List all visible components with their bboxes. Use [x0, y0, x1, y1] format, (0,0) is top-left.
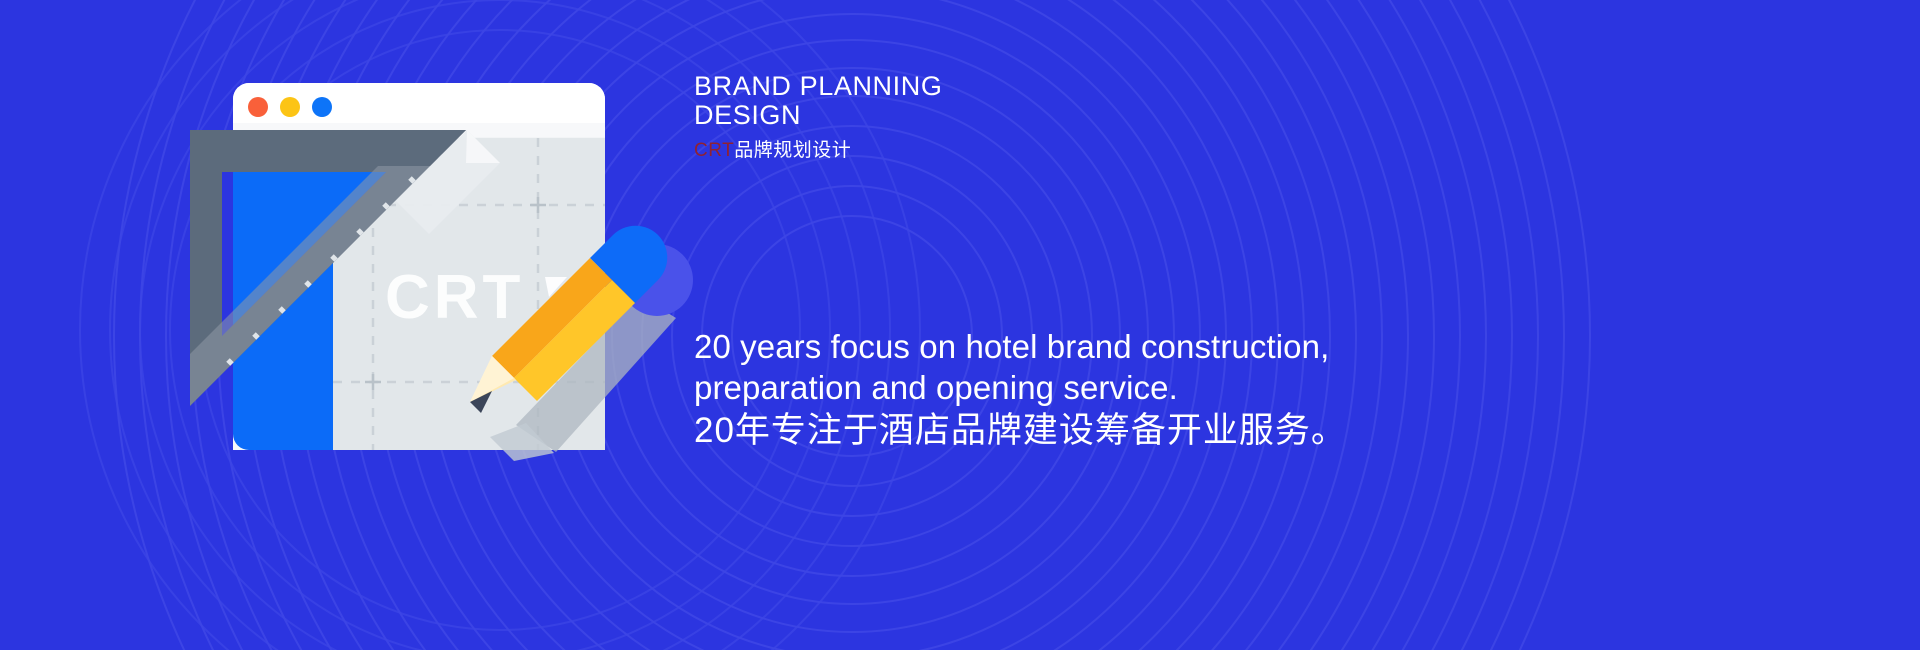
eyebrow-title-cn: 品牌规划设计 — [734, 140, 851, 161]
eyebrow-title-cn-row: CRT品牌规划设计 — [694, 140, 851, 163]
svg-text:CRT: CRT — [385, 263, 524, 332]
banner-copy-block: BRAND PLANNING DESIGN CRT品牌规划设计 20 years… — [694, 0, 1874, 650]
eyebrow-title-en: BRAND PLANNING DESIGN — [694, 72, 1334, 130]
blue-dot-icon — [312, 97, 332, 117]
ruler-top-edge — [190, 130, 466, 166]
headline-cn: 20年专注于酒店品牌建设筹备开业服务。 — [694, 409, 1347, 453]
banner-stage: CRT — [0, 0, 1920, 650]
headline-en: 20 years focus on hotel brand constructi… — [694, 326, 1394, 409]
yellow-dot-icon — [280, 97, 300, 117]
brand-abbr: CRT — [694, 140, 734, 161]
red-dot-icon — [248, 97, 268, 117]
